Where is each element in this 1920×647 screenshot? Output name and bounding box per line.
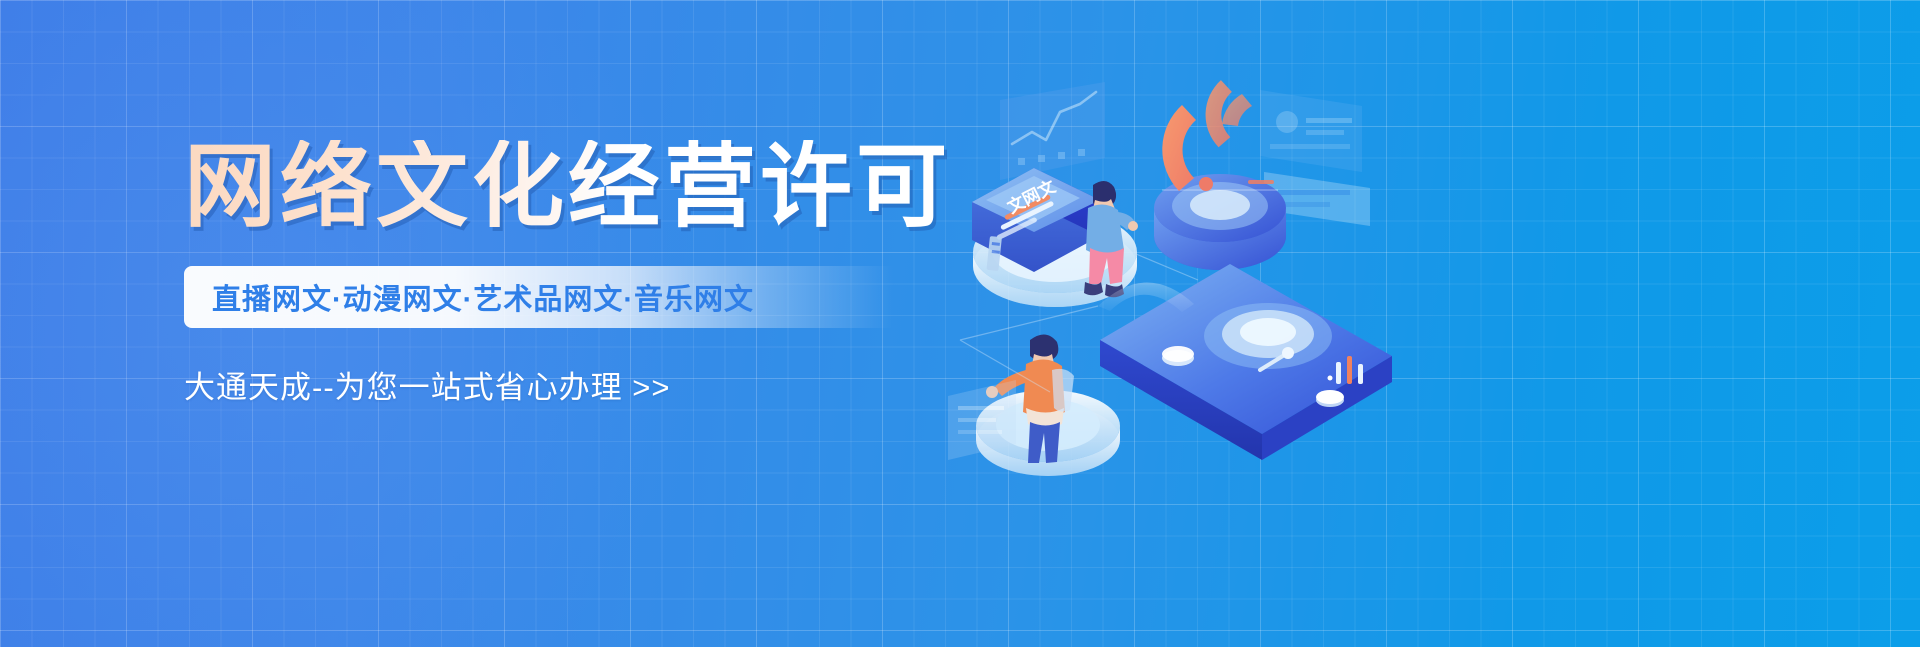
tagline-cta[interactable]: 大通天成--为您一站式省心办理 >>: [184, 362, 944, 407]
subtitle-bar: 直播网文·动漫网文·艺术品网文·音乐网文: [184, 266, 894, 328]
cylinder-platform: [1154, 174, 1286, 270]
wifi-signal-icon: [1162, 80, 1252, 191]
page-title: 网络文化经营许可证: [184, 140, 944, 236]
document-panel: [1260, 90, 1362, 172]
promo-banner: 网络文化经营许可证 直播网文·动漫网文·艺术品网文·音乐网文 大通天成--为您一…: [0, 0, 1920, 647]
subtitle-bar-label: 直播网文·动漫网文·艺术品网文·音乐网文: [184, 276, 754, 318]
hero-illustration: 文网文: [930, 40, 1430, 460]
line-chart-panel: [1000, 82, 1105, 180]
banner-copy-block: 网络文化经营许可证 直播网文·动漫网文·艺术品网文·音乐网文 大通天成--为您一…: [184, 140, 944, 407]
